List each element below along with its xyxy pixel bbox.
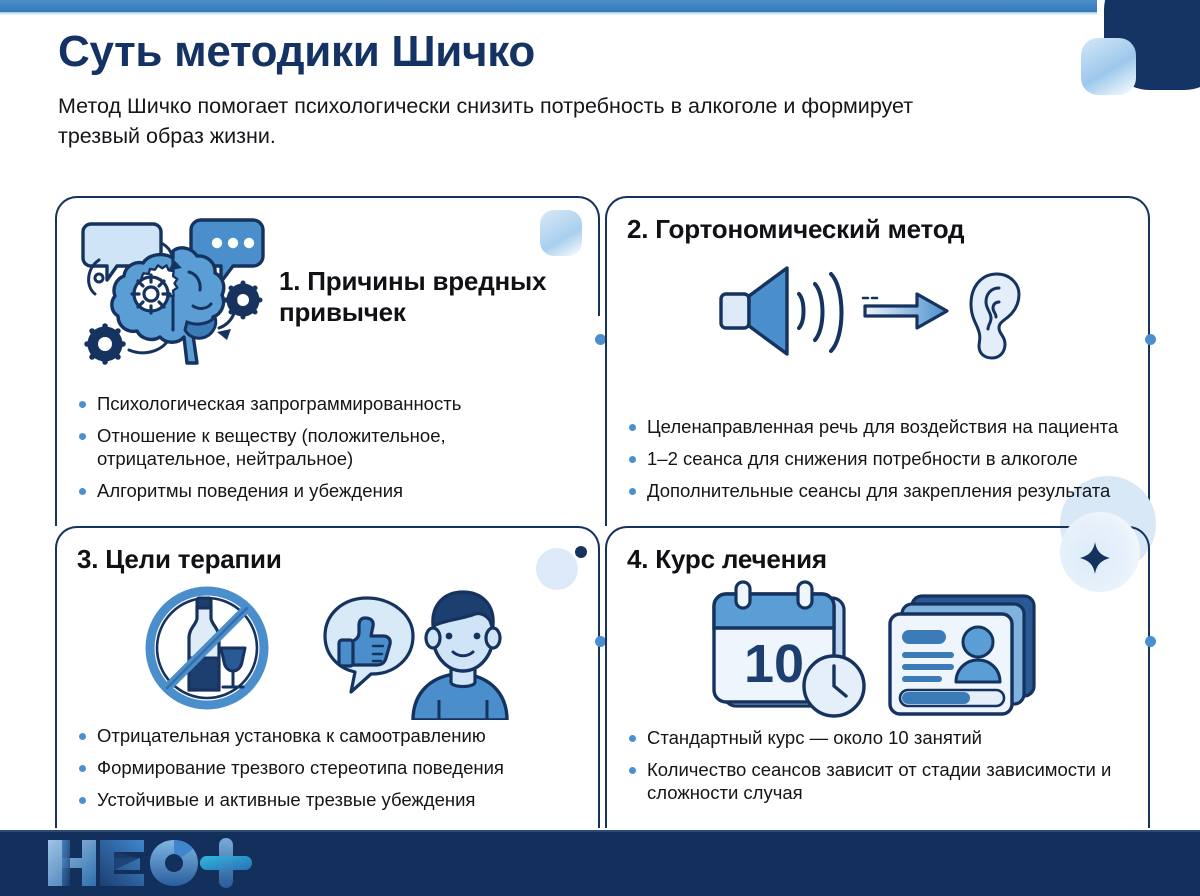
card-bullet-list: Стандартный курс — около 10 занятий Коли… [627,727,1128,828]
card-header: 3. Цели терапии [77,544,578,574]
card-title: 4. Курс лечения [627,544,1128,574]
list-item: Алгоритмы поведения и убеждения [77,480,578,503]
no-alcohol-thumbsup-person-icon [143,580,513,725]
list-item: Целенаправленная речь для воздействия на… [627,416,1128,439]
speaker-arrow-ear-icon [713,262,1043,367]
list-item: Отношение к веществу (положительное, отр… [77,425,578,471]
footer: HEO+ [0,830,1200,896]
sparkle-icon [1080,542,1110,579]
list-item: Дополнительные сеансы для закрепления ре… [627,480,1128,503]
list-item: Отрицательная установка к самоотравлению [77,725,578,748]
top-accent-bar [0,0,1097,12]
card-bullet-list: Целенаправленная речь для воздействия на… [627,416,1128,526]
card-bullet-list: Отрицательная установка к самоотравлению… [77,725,578,835]
footer-divider [0,830,1200,832]
card-title: 3. Цели терапии [77,544,578,574]
list-item: Формирование трезвого стереотипа поведен… [77,757,578,780]
header: Суть методики Шичко Метод Шичко помогает… [58,28,1058,152]
list-item: Количество сеансов зависит от стадии зав… [627,759,1128,805]
card-title: 2. Гортономический метод [627,214,1128,244]
corner-light-square-shape [1081,38,1136,95]
card-treatment-course[interactable]: 4. Курс лечения 10 [605,526,1150,828]
page-subtitle: Метод Шичко помогает психологически сниз… [58,92,958,151]
card-bullet-list: Психологическая запрограммированность От… [77,393,578,526]
card-header: 1. Причины вредных привычек [77,214,578,379]
list-item: 1–2 сеанса для снижения потребности в ал… [627,448,1128,471]
list-item: Психологическая запрограммированность [77,393,578,416]
page-title: Суть методики Шичко [58,28,1058,76]
calendar-day-number: 10 [743,634,803,694]
card-therapy-goals[interactable]: 3. Цели терапии [55,526,600,828]
list-item: Стандартный курс — около 10 занятий [627,727,1128,750]
card-header: 2. Гортономический метод [627,214,1128,244]
card-causes-of-bad-habits[interactable]: 1. Причины вредных привычек Психологичес… [55,196,600,526]
card-header: 4. Курс лечения [627,544,1128,574]
card-title: 1. Причины вредных привычек [279,266,578,327]
top-accent-bar-glow [0,12,1097,15]
calendar-clock-cards-icon: 10 [698,580,1058,727]
list-item: Устойчивые и активные трезвые убеждения [77,789,578,812]
card-gortonomic-method[interactable]: 2. Гортономический метод [605,196,1150,526]
brand-logo-mark [44,838,280,888]
card-grid: 1. Причины вредных привычек Психологичес… [55,196,1150,828]
brand-logo[interactable]: HEO+ [44,836,280,890]
brain-gears-icon [77,214,273,379]
